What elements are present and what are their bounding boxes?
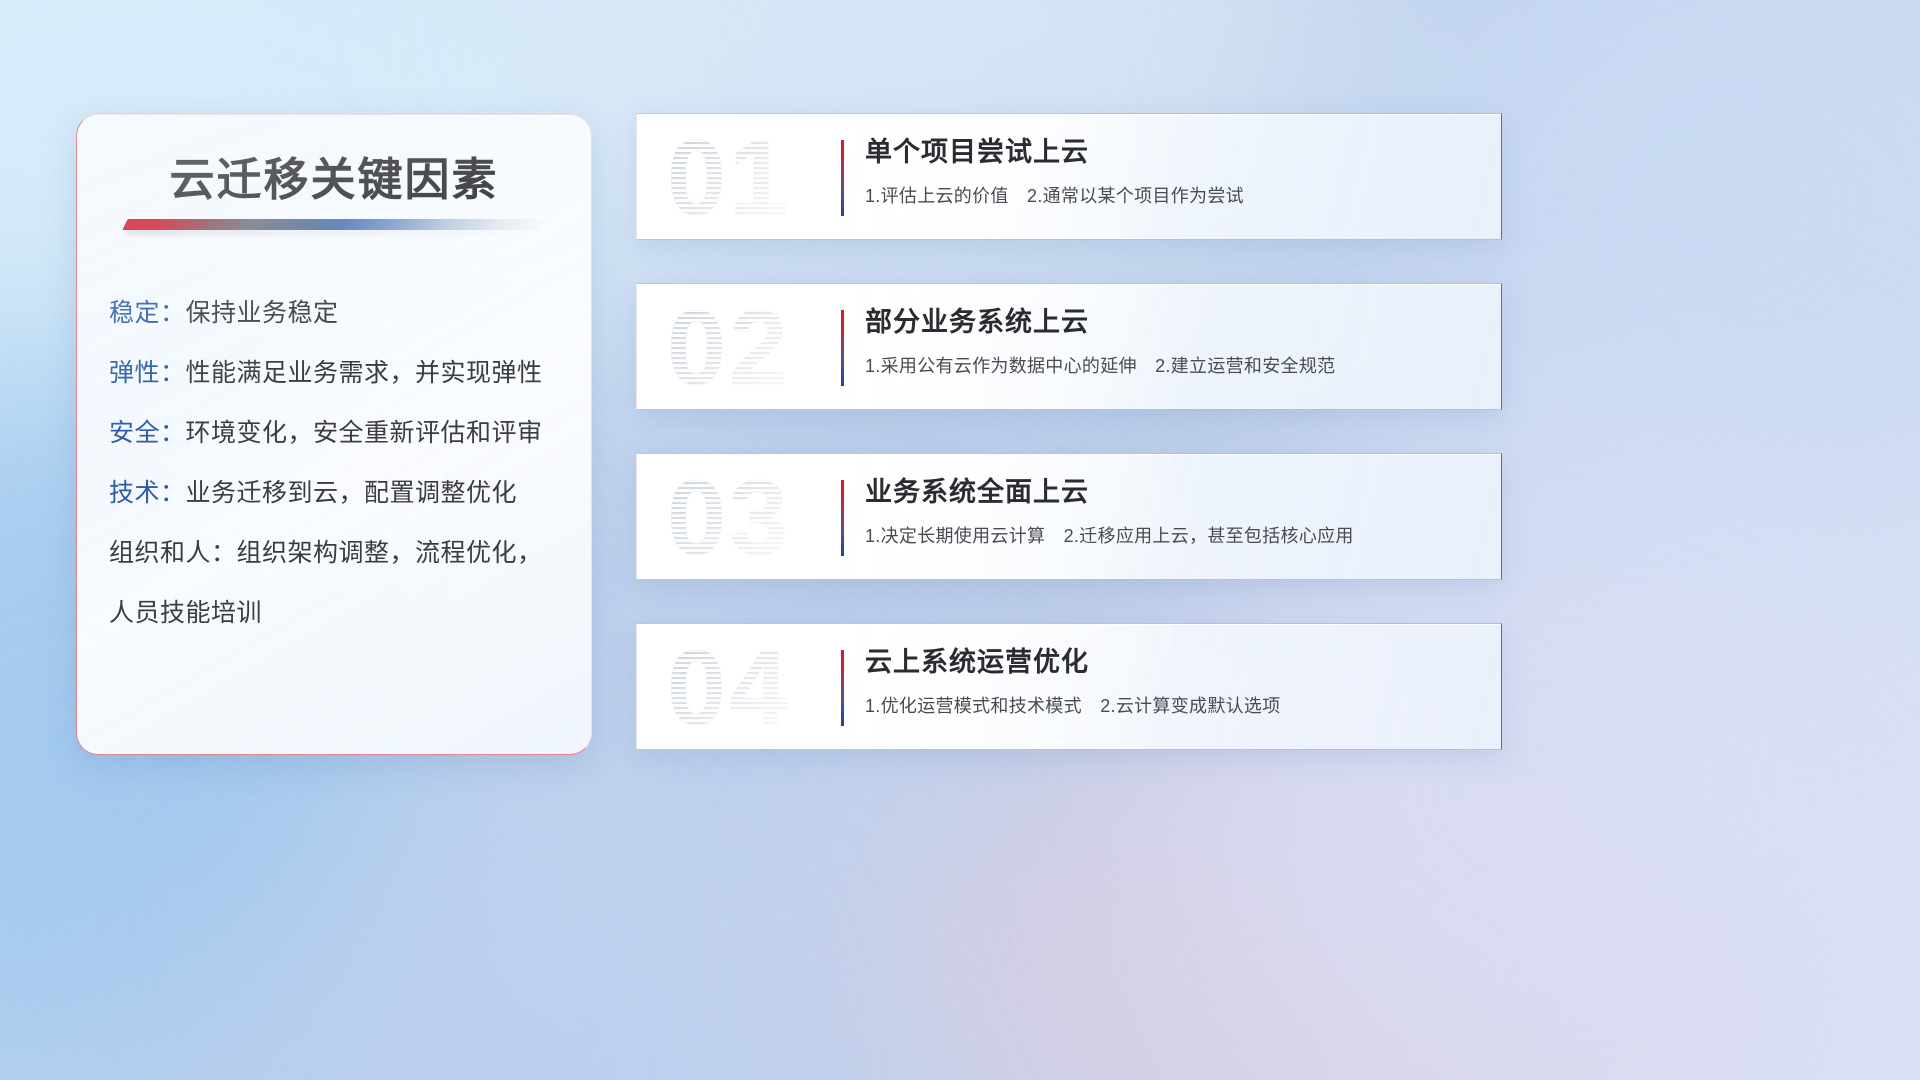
stage-number-graphic: 0101 [665,122,855,234]
key-factor-text: 保持业务稳定 [186,299,339,327]
slide-stage: 云迁移关键因素 稳定：保持业务稳定弹性：性能满足业务需求，并实现弹性安全：环境变… [0,0,1920,1080]
key-factor-row: 组织和人：组织架构调整，流程优化， [109,541,567,566]
key-factor-row: 稳定：保持业务稳定 [109,301,567,326]
card-accent-divider [841,480,844,556]
migration-stage-card[interactable]: 0303业务系统全面上云1.决定长期使用云计算 2.迁移应用上云，甚至包括核心应… [636,453,1502,580]
migration-stage-card[interactable]: 0101单个项目尝试上云1.评估上云的价值 2.通常以某个项目作为尝试 [636,113,1502,240]
key-factor-text: 环境变化，安全重新评估和评审 [186,419,543,447]
stage-number-graphic: 0404 [665,632,855,744]
key-factor-row: 技术：业务迁移到云，配置调整优化 [109,481,567,506]
card-body: 云上系统运营优化1.优化运营模式和技术模式 2.云计算变成默认选项 [865,646,1477,718]
key-factors-list: 稳定：保持业务稳定弹性：性能满足业务需求，并实现弹性安全：环境变化，安全重新评估… [109,301,567,626]
key-factor-text: 业务迁移到云，配置调整优化 [186,479,518,507]
key-factor-text: 性能满足业务需求，并实现弹性 [186,359,543,387]
key-factor-label: 安全： [109,419,186,447]
key-factor-row: 弹性：性能满足业务需求，并实现弹性 [109,361,567,386]
migration-stage-cards: 0101单个项目尝试上云1.评估上云的价值 2.通常以某个项目作为尝试0202部… [636,113,1502,750]
card-title: 单个项目尝试上云 [865,136,1477,170]
key-factor-label: 组织和人： [109,539,237,567]
card-body: 部分业务系统上云1.采用公有云作为数据中心的延伸 2.建立运营和安全规范 [865,306,1477,378]
card-accent-divider [841,310,844,386]
stage-number-graphic: 0202 [665,292,855,404]
key-factors-panel: 云迁移关键因素 稳定：保持业务稳定弹性：性能满足业务需求，并实现弹性安全：环境变… [76,114,592,755]
key-factor-row: 安全：环境变化，安全重新评估和评审 [109,421,567,446]
card-body: 单个项目尝试上云1.评估上云的价值 2.通常以某个项目作为尝试 [865,136,1477,208]
svg-text:04: 04 [667,632,791,744]
card-body: 业务系统全面上云1.决定长期使用云计算 2.迁移应用上云，甚至包括核心应用 [865,476,1477,548]
panel-title: 云迁移关键因素 [77,143,591,208]
card-subtitle: 1.优化运营模式和技术模式 2.云计算变成默认选项 [865,692,1477,718]
key-factor-label: 稳定： [109,299,186,327]
card-accent-divider [841,650,844,726]
card-subtitle: 1.采用公有云作为数据中心的延伸 2.建立运营和安全规范 [865,352,1477,378]
svg-text:01: 01 [667,122,791,234]
card-title: 部分业务系统上云 [865,306,1477,340]
stage-number-graphic: 0303 [665,462,855,574]
card-subtitle: 1.评估上云的价值 2.通常以某个项目作为尝试 [865,182,1477,208]
title-underline-gradient-bar [122,219,547,230]
card-title: 云上系统运营优化 [865,646,1477,680]
title-underline-shadow [126,230,544,235]
migration-stage-card[interactable]: 0202部分业务系统上云1.采用公有云作为数据中心的延伸 2.建立运营和安全规范 [636,283,1502,410]
key-factor-row: 人员技能培训 [109,601,567,626]
key-factor-label: 弹性： [109,359,186,387]
key-factor-text: 组织架构调整，流程优化， [237,539,543,567]
key-factor-label: 技术： [109,479,186,507]
migration-stage-card[interactable]: 0404云上系统运营优化1.优化运营模式和技术模式 2.云计算变成默认选项 [636,623,1502,750]
card-title: 业务系统全面上云 [865,476,1477,510]
key-factor-text: 人员技能培训 [109,599,262,627]
card-subtitle: 1.决定长期使用云计算 2.迁移应用上云，甚至包括核心应用 [865,522,1477,548]
svg-text:02: 02 [667,292,791,404]
svg-text:03: 03 [667,462,791,574]
card-accent-divider [841,140,844,216]
